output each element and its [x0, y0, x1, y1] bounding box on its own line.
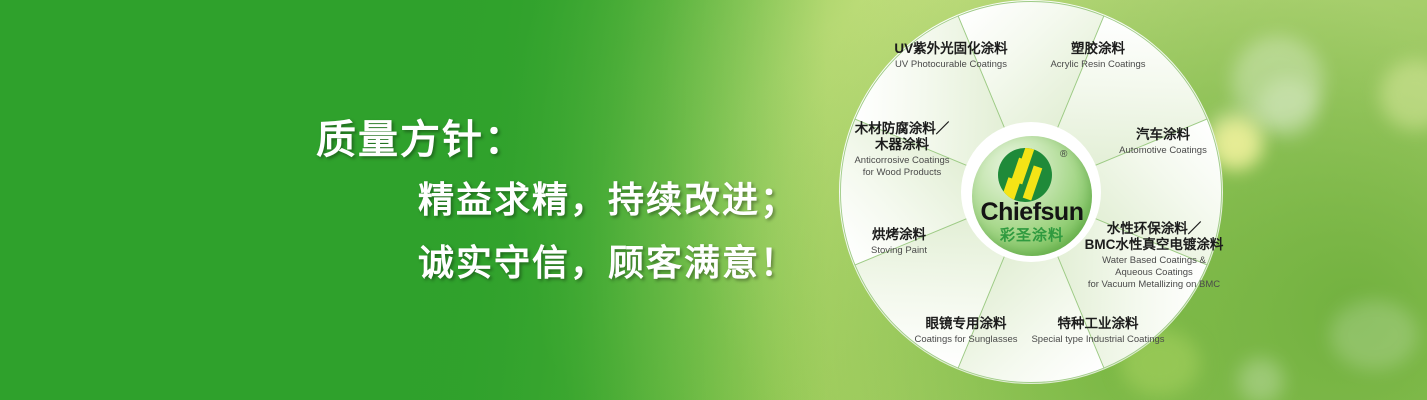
quality-policy-slogan: 质量方针： 精益求精，持续改进； 诚实守信，顾客满意！	[300, 112, 820, 294]
wheat-slashes-icon	[998, 148, 1052, 202]
chiefsun-logo[interactable]: ® Chiefsun 彩圣涂料	[972, 136, 1092, 256]
slogan-line-2: 精益求精，持续改进；	[300, 168, 820, 232]
logo-wordmark: Chiefsun	[972, 198, 1092, 227]
registered-trademark-icon: ®	[1060, 149, 1067, 160]
promo-banner: 质量方针： 精益求精，持续改进； 诚实守信，顾客满意！	[0, 0, 1427, 400]
slogan-heading: 质量方针：	[300, 112, 820, 168]
slogan-line-3: 诚实守信，顾客满意！	[300, 232, 820, 294]
logo-wordmark-cn: 彩圣涂料	[972, 224, 1092, 245]
